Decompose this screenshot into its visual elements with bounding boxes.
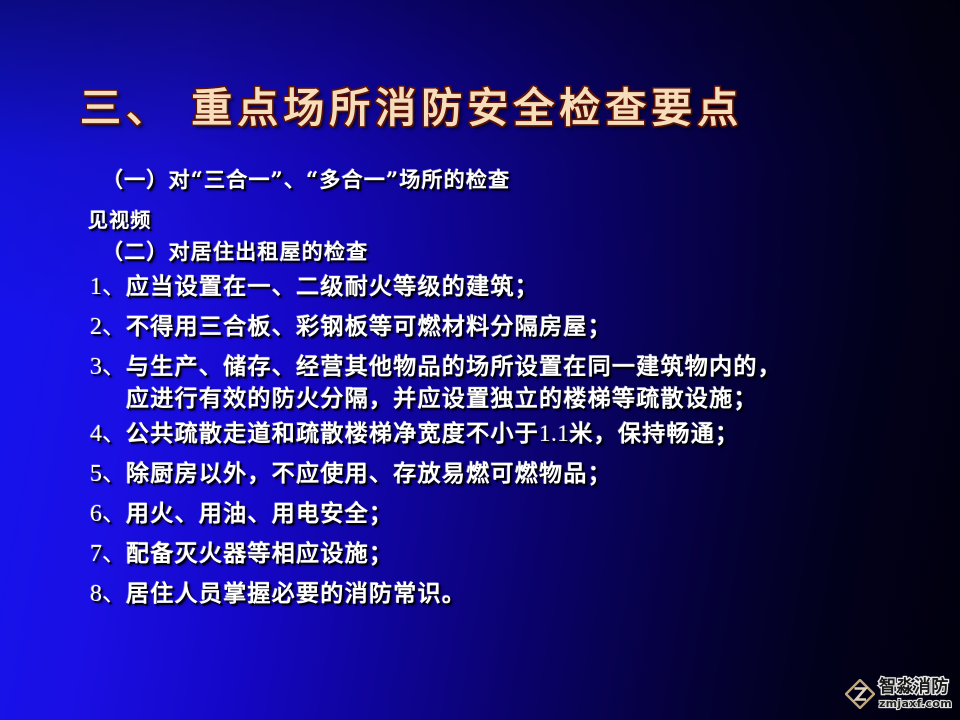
list-item-measure: 1.1 [539,421,569,446]
brand-mark-icon [845,679,875,709]
watermark-name: 智淼消防 [879,679,952,696]
list-item-number: 8、 [90,581,126,607]
list-item: 7、配备灭火器等相应设施； [90,533,393,568]
list-item-number: 7、 [90,541,126,567]
list-item-number: 4、 [90,421,126,447]
list-item-number: 3、 [90,354,126,380]
list-item-number: 6、 [90,501,126,527]
slide-body: （一）对“三合一”、“多合一”场所的检查 见视频 （二）对居住出租屋的检查 1、… [0,158,960,588]
slide-canvas: 三、 重点场所消防安全检查要点 （一）对“三合一”、“多合一”场所的检查 见视频… [0,0,960,720]
list-item: 2、不得用三合板、彩钢板等可燃材料分隔房屋； [90,306,612,341]
list-item-number: 5、 [90,461,126,487]
list-item-text: 配备灭火器等相应设施； [126,534,393,568]
list-item-text: 不得用三合板、彩钢板等可燃材料分隔房屋； [126,307,612,341]
list-item: 4、公共疏散走道和疏散楼梯净宽度不小于1.1米，保持畅通； [90,413,739,448]
watermark-text: 智淼消防 zmjaxf.com [879,679,952,709]
watermark-url: zmjaxf.com [879,698,952,709]
list-item-text: 除厨房以外，不应使用、存放易燃可燃物品； [126,454,612,488]
list-item-text: 应当设置在一、二级耐火等级的建筑； [126,267,539,301]
page-title: 三、 重点场所消防安全检查要点 [80,82,890,134]
section-heading-one: （一）对“三合一”、“多合一”场所的检查 [102,164,510,194]
list-item-text-b: 米，保持畅通； [569,414,739,448]
list-item: 5、除厨房以外，不应使用、存放易燃可燃物品； [90,453,612,488]
list-item-number: 1、 [90,274,126,300]
list-item: 8、居住人员掌握必要的消防常识。 [90,573,466,608]
list-item-number: 2、 [90,314,126,340]
video-note: 见视频 [88,204,152,233]
watermark-logo: 智淼消防 zmjaxf.com [845,674,952,714]
list-item-text: 居住人员掌握必要的消防常识。 [126,574,466,608]
list-item: 3、与生产、储存、经营其他物品的场所设置在同一建筑物内的， [90,346,782,381]
list-item: 1、应当设置在一、二级耐火等级的建筑； [90,266,539,301]
list-item-text: 与生产、储存、经营其他物品的场所设置在同一建筑物内的， [126,347,782,381]
list-item-continuation: 应进行有效的防火分隔，并应设置独立的楼梯等疏散设施； [126,379,758,413]
section-heading-two: （二）对居住出租屋的检查 [102,236,368,266]
list-item: 6、用火、用油、用电安全； [90,493,393,528]
list-item-text: 用火、用油、用电安全； [126,494,393,528]
list-item-text-a: 公共疏散走道和疏散楼梯净宽度不小于 [126,414,539,448]
